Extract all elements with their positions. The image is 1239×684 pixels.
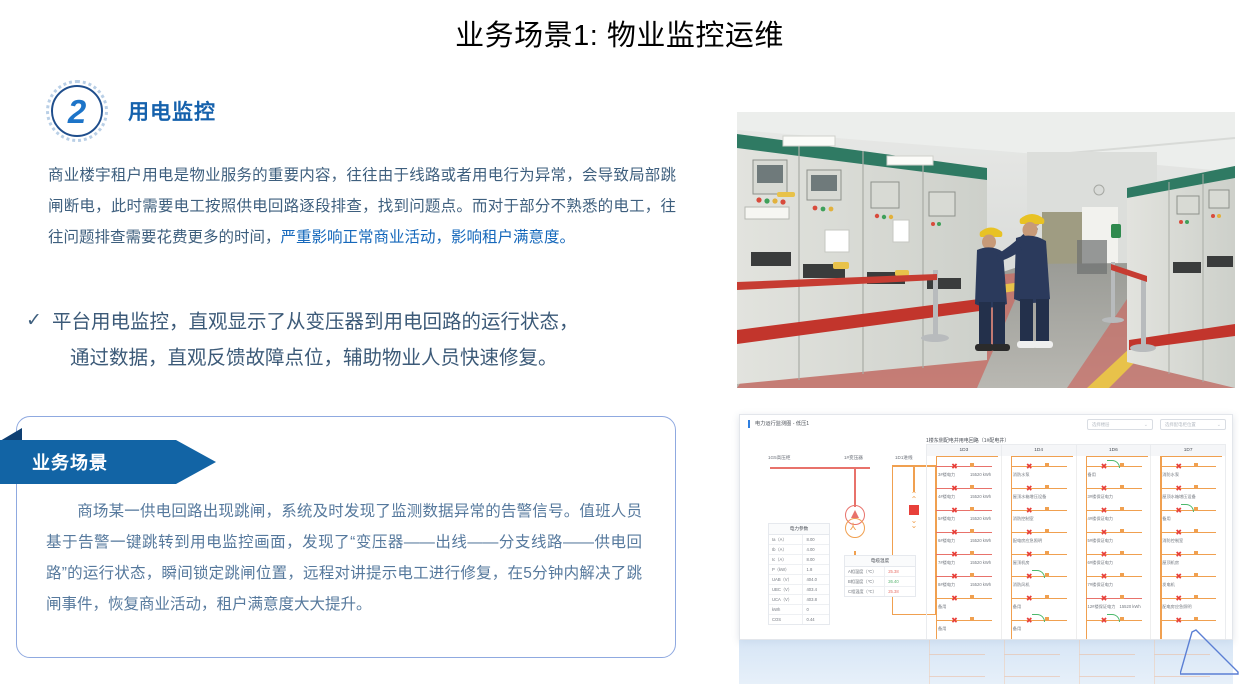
reflection-branch-line [929,676,985,677]
branch-label: 备用 [1013,604,1021,610]
key-point-line-2: 通过数据，直观反馈故障点位，辅助物业人员快速修复。 [52,340,579,376]
dashboard-body: 1楼东侧配电井用电回路（1#配电井） 1G5高压柜 1#变压器 1D1进线 ⅄ … [740,435,1232,640]
section-number-badge: 2 [46,80,108,142]
circuit-branch[interactable]: ✖屋顶水箱增压设备 [1011,484,1077,506]
breaker-open-x-icon: ✖ [1100,529,1109,538]
reflection-branch-line [1079,654,1135,655]
dashboard-reflection [739,640,1233,684]
table-cell-value: 8.00 [803,555,829,564]
branch-label: 5#楼电力 [938,516,955,522]
circuit-branch[interactable]: ✖4#楼保证电力 [1086,506,1152,528]
branch-energy-value: 15520 kWh [1120,604,1141,609]
floor-select-placeholder: 选择楼层 [1092,422,1110,428]
breaker-open-x-icon: ✖ [950,551,959,560]
circuit-column: ✖备用✖3#楼保证电力✖4#楼保证电力✖5#楼保证电力✖6#楼保证电力✖7#楼保… [1077,456,1152,640]
circuit-branch[interactable]: ✖备用 [1160,506,1226,528]
branch-line [936,510,992,511]
branch-label: 消防风机 [1013,582,1030,588]
branch-label: 配电房应急照明 [1162,604,1191,610]
branch-label: 屋顶水箱增压设备 [1013,494,1047,500]
breaker-open-x-icon: ✖ [1174,529,1183,538]
branch-line [936,466,992,467]
branch-terminal-icon [970,595,974,599]
branch-label: 3#楼保证电力 [1088,494,1114,500]
circuit-branch[interactable]: ✖5#楼电力15520 kWh [936,506,1002,528]
branch-terminal-icon [970,573,974,577]
branch-status-ok-arc-icon [1107,614,1120,622]
branch-terminal-icon [1120,573,1124,577]
key-point-line-1: 平台用电监控，直观显示了从变压器到用电回路的运行状态， [52,311,579,333]
temp-table-rows: A相温度（℃）25.38B相温度（℃）26.40C相温度（℃）25.38 [845,567,915,596]
table-cell-value: 404.0 [803,575,829,584]
table-row: kWh0 [769,605,829,615]
branch-terminal-icon [1045,529,1049,533]
main-breaker-icon: ⌃ ⌃ ⌄ ⌄ [901,491,927,531]
scenario-banner: 业务场景 [0,440,216,484]
circuit-column-header[interactable]: 1D4 [1002,445,1077,456]
branch-energy-value: 15520 kWh [970,472,991,477]
branch-label: 5#楼保证电力 [1088,538,1114,544]
circuit-branch[interactable]: ✖3#楼保证电力 [1086,484,1152,506]
branch-status-ok-arc-icon [1181,504,1194,512]
table-cell-key: B相温度（℃） [845,577,885,586]
branch-line [1011,598,1067,599]
table-cell-value: 26.40 [885,577,915,586]
circuit-branch[interactable]: ✖备用 [1011,616,1077,638]
table-cell-value: 25.38 [885,587,915,596]
circuit-branch[interactable]: ✖消防控制室 [1160,528,1226,550]
table-cell-value: 4.00 [803,545,829,554]
circuit-branch[interactable]: ✖备用 [936,616,1002,638]
branch-line [1160,576,1216,577]
table-row: B相温度（℃）26.40 [845,577,915,587]
circuit-top-bus [1011,456,1073,457]
circuit-branch[interactable]: ✖备用 [1011,594,1077,616]
circuit-branch[interactable]: ✖6#楼电力15520 kWh [936,528,1002,550]
branch-label: 屋顶水箱增压设备 [1162,494,1196,500]
section-heading: 用电监控 [128,96,216,126]
page-title: 业务场景1: 物业监控运维 [0,12,1239,54]
breaker-chevron-up-2-icon: ⌃ [904,496,924,504]
branch-energy-value: 15520 kWh [970,516,991,521]
branch-energy-value: 15520 kWh [970,582,991,587]
breaker-open-x-icon: ✖ [950,617,959,626]
circuit-branch[interactable]: ✖6#楼保证电力 [1086,550,1152,572]
branch-label: 备用 [938,604,946,610]
branch-label: 配电房应急照明 [1013,538,1042,544]
branch-terminal-icon [1120,617,1124,621]
scenario-body-text: 商场某一供电回路出现跳闸，系统及时发现了监测数据异常的告警信号。值班人员基于告警… [46,496,642,620]
branch-line [1160,532,1216,533]
breaker-open-x-icon: ✖ [950,463,959,472]
branch-terminal-icon [1045,573,1049,577]
branch-terminal-icon [1194,551,1198,555]
circuit-branch[interactable]: ✖12#楼保证电力15520 kWh [1086,594,1152,616]
breaker-open-x-icon: ✖ [1174,485,1183,494]
breaker-open-x-icon: ✖ [1025,595,1034,604]
table-cell-value: 0.44 [803,615,829,624]
intro-paragraph: 商业楼宇租户用电是物业服务的重要内容，往往由于线路或者用电行为异常，会导致局部跳… [48,160,676,253]
reflection-lines [739,640,1233,684]
branch-energy-value: 15520 kWh [970,560,991,565]
branch-terminal-icon [1120,551,1124,555]
cabinet-select-placeholder: 选择配电柜位置 [1165,422,1196,428]
branch-label: 备用 [1088,472,1096,478]
breaker-chevron-down-2-icon: ⌄ [904,522,924,530]
breaker-open-x-icon: ✖ [950,485,959,494]
breaker-open-x-icon: ✖ [1100,507,1109,516]
branch-label: 4#楼电力 [938,494,955,500]
reflection-vertical-line [1004,640,1005,684]
branch-terminal-icon [970,485,974,489]
circuit-branch[interactable]: ✖消防风机 [1011,572,1077,594]
breaker-open-x-icon: ✖ [1100,551,1109,560]
circuit-branch[interactable]: ✖消防控制室 [1011,506,1077,528]
breaker-open-x-icon: ✖ [1025,507,1034,516]
table-cell-key: COS [769,615,803,624]
power-table-rows: Ia（A）8.00Ib（A）4.00Ic（A）8.00P（kW）1.8UAB（V… [769,535,829,624]
branch-terminal-icon [1194,595,1198,599]
breaker-open-x-icon: ✖ [1100,595,1109,604]
branch-terminal-icon [1120,463,1124,467]
delta-triangle-icon [851,510,859,518]
key-point-bullet: ✓ 平台用电监控，直观显示了从变压器到用电回路的运行状态， 通过数据，直观反馈故… [26,304,686,376]
circuit-header-row: 1D31D41D61D7 [926,444,1226,456]
branch-line [936,532,992,533]
table-cell-value: 25.38 [885,567,915,576]
circuit-branch[interactable]: ✖备用 [1086,462,1152,484]
branch-label: 3#楼电力 [938,472,955,478]
circuit-branch[interactable]: ✖消防水泵 [1160,462,1226,484]
branch-terminal-icon [1045,507,1049,511]
branch-line [1160,488,1216,489]
dashboard-header: 电力运行监测图 - 低压1 选择楼层 ⌄ 选择配电柜位置 ⌄ [740,415,1232,435]
branch-terminal-icon [1194,485,1198,489]
branch-line [936,620,992,621]
breaker-state-square-icon [909,505,919,515]
table-row: UAB（V）404.0 [769,575,829,585]
breaker-open-x-icon: ✖ [950,529,959,538]
circuit-column: ✖消防水泵✖屋顶水箱增压设备✖备用✖消防控制室✖屋顶机房✖发电机✖配电房应急照明… [1151,456,1225,640]
branch-terminal-icon [1194,507,1198,511]
breaker-open-x-icon: ✖ [1100,485,1109,494]
breaker-open-x-icon: ✖ [950,573,959,582]
table-row: C相温度（℃）25.38 [845,587,915,596]
high-voltage-drop-line [854,467,856,507]
table-row: UBC（V）403.4 [769,585,829,595]
circuit-column-header[interactable]: 1D7 [1151,445,1225,456]
branch-line [1160,620,1216,621]
power-monitoring-dashboard[interactable]: 电力运行监测图 - 低压1 选择楼层 ⌄ 选择配电柜位置 ⌄ 1楼东侧配电井用电… [739,414,1233,640]
table-cell-key: Ia（A） [769,535,803,544]
reflection-vertical-line [1079,640,1080,684]
circuit-branch[interactable]: ✖ [1086,616,1152,638]
perspective-wedge-decoration [1180,628,1239,684]
circuit-branch[interactable]: ✖发电机 [1160,572,1226,594]
circuit-branch[interactable]: ✖配电房应急照明 [1160,594,1226,616]
branch-energy-value: 15520 kWh [970,538,991,543]
circuit-branch[interactable]: ✖8#楼电力15520 kWh [936,572,1002,594]
table-row: Ic（A）8.00 [769,555,829,565]
circuit-branch[interactable]: ✖3#楼电力15520 kWh [936,462,1002,484]
table-cell-key: kWh [769,605,803,614]
branch-terminal-icon [1045,595,1049,599]
table-row: Ib（A）4.00 [769,545,829,555]
breaker-open-x-icon: ✖ [950,595,959,604]
transformer-symbol-icon: ⅄ [841,505,869,551]
breaker-open-x-icon: ✖ [1174,595,1183,604]
branch-label: 7#楼保证电力 [1088,582,1114,588]
table-cell-value: 1.8 [803,565,829,574]
branch-terminal-icon [1045,485,1049,489]
branch-terminal-icon [1045,551,1049,555]
branch-terminal-icon [1045,463,1049,467]
breaker-open-x-icon: ✖ [1025,551,1034,560]
reflection-branch-line [1004,676,1060,677]
circuit-branch[interactable]: ✖屋顶机房 [1011,550,1077,572]
branch-terminal-icon [970,529,974,533]
branch-label: 备用 [938,626,946,632]
circuit-column-header[interactable]: 1D6 [1077,445,1152,456]
reflection-vertical-line [1154,640,1155,684]
circuit-top-bus [1160,456,1222,457]
scenario-line-1: 商场某一供电回路出现跳闸，系统及时发现了监测数据异常的告警信号。 [77,503,579,520]
branch-terminal-icon [1045,617,1049,621]
circuit-branch[interactable]: ✖屋顶机房 [1160,550,1226,572]
circuit-column: ✖3#楼电力15520 kWh✖4#楼电力15520 kWh✖5#楼电力1552… [927,456,1002,640]
table-cell-key: UAB（V） [769,575,803,584]
chevron-down-icon: ⌄ [1217,422,1221,428]
branch-line [1160,466,1216,467]
branch-terminal-icon [1194,529,1198,533]
check-icon: ✓ [26,304,52,338]
branch-line [936,488,992,489]
branch-label: 7#楼电力 [938,560,955,566]
breaker-open-x-icon: ✖ [950,507,959,516]
badge-number: 2 [46,80,108,142]
photo-illustration [737,112,1235,388]
branch-label: 屋顶机房 [1013,560,1030,566]
breaker-open-x-icon: ✖ [1025,463,1034,472]
circuit-column: ✖消防水泵✖屋顶水箱增压设备✖消防控制室✖配电房应急照明✖屋顶机房✖消防风机✖备… [1002,456,1077,640]
branch-terminal-icon [970,463,974,467]
table-cell-value: 403.8 [803,595,829,604]
section-header: 2 用电监控 [46,80,216,142]
breaker-open-x-icon: ✖ [1174,551,1183,560]
table-cell-key: C相温度（℃） [845,587,885,596]
chevron-down-icon: ⌄ [1144,422,1148,428]
branch-label: 消防控制室 [1162,538,1183,544]
branch-label: 4#楼保证电力 [1088,516,1114,522]
branch-line [1011,554,1067,555]
table-cell-value: 8.00 [803,535,829,544]
table-row: Ia（A）8.00 [769,535,829,545]
table-cell-value: 403.4 [803,585,829,594]
branch-label: 6#楼保证电力 [1088,560,1114,566]
branch-line [1086,598,1142,599]
key-point-text: 平台用电监控，直观显示了从变压器到用电回路的运行状态， 通过数据，直观反馈故障点… [52,304,579,376]
reflection-vertical-line [929,640,930,684]
branch-status-ok-arc-icon [1032,614,1045,622]
power-table-header: 电力参数 [769,524,829,535]
circuit-branch[interactable]: ✖备用 [936,594,1002,616]
branch-terminal-icon [1120,595,1124,599]
breaker-open-x-icon: ✖ [1100,573,1109,582]
cable-temperature-table: 电缆温度 A相温度（℃）25.38B相温度（℃）26.40C相温度（℃）25.3… [844,555,916,597]
branch-energy-value: 15520 kWh [970,494,991,499]
table-cell-key: Ic（A） [769,555,803,564]
branch-label: 消防控制室 [1013,516,1034,522]
power-parameters-table: 电力参数 Ia（A）8.00Ib（A）4.00Ic（A）8.00P（kW）1.8… [768,523,830,625]
breaker-open-x-icon: ✖ [1174,463,1183,472]
branch-line [1086,576,1142,577]
reflection-branch-line [1079,676,1135,677]
branch-label: 6#楼电力 [938,538,955,544]
scenario-banner-label: 业务场景 [0,449,108,475]
table-cell-key: UCA（V） [769,595,803,604]
breaker-open-x-icon: ✖ [1025,529,1034,538]
branch-line [1086,532,1142,533]
branch-terminal-icon [1120,485,1124,489]
branch-line [936,576,992,577]
branch-label: 备用 [1013,626,1021,632]
dashboard-filters: 选择楼层 ⌄ 选择配电柜位置 ⌄ [1087,419,1226,430]
circuit-branch[interactable]: ✖消防水泵 [1011,462,1077,484]
table-row: UCA（V）403.8 [769,595,829,605]
branch-line [1011,510,1067,511]
wye-glyph-icon: ⅄ [850,523,856,533]
branch-line [1011,532,1067,533]
circuit-branch[interactable]: ✖5#楼保证电力 [1086,528,1152,550]
branch-label: 12#楼保证电力 [1088,604,1116,610]
branch-line [1011,466,1067,467]
table-cell-key: A相温度（℃） [845,567,885,576]
reflection-branch-line [1004,654,1060,655]
branch-terminal-icon [1194,617,1198,621]
circuit-columns: 1D31D41D61D7 ✖3#楼电力15520 kWh✖4#楼电力15520 … [926,444,1226,640]
branch-label: 备用 [1162,516,1170,522]
table-cell-value: 0 [803,605,829,614]
branch-label: 消防水泵 [1162,472,1179,478]
label-incoming-line: 1D1进线 [895,455,913,461]
table-row: A相温度（℃）25.38 [845,567,915,577]
circuit-branch[interactable]: ✖7#楼电力15520 kWh [936,550,1002,572]
banner-fold-shape [0,428,22,441]
branch-line [1086,554,1142,555]
branch-terminal-icon [1194,463,1198,467]
breaker-open-x-icon: ✖ [1025,485,1034,494]
branch-terminal-icon [970,507,974,511]
branch-line [1086,510,1142,511]
breaker-open-x-icon: ✖ [1174,617,1183,626]
table-cell-key: Ib（A） [769,545,803,554]
cabinet-location-select[interactable]: 选择配电柜位置 ⌄ [1160,419,1226,430]
branch-status-ok-arc-icon [1032,570,1045,578]
branch-line [1160,598,1216,599]
branch-line [1011,488,1067,489]
circuit-group-title: 1楼东侧配电井用电回路（1#配电井） [926,437,1009,444]
branch-terminal-icon [1120,529,1124,533]
breaker-open-x-icon: ✖ [1174,573,1183,582]
temp-table-header: 电缆温度 [845,556,915,567]
label-high-voltage-cabinet: 1G5高压柜 [768,455,790,461]
circuit-top-bus [936,456,998,457]
branch-terminal-icon [970,617,974,621]
circuit-column-bodies: ✖3#楼电力15520 kWh✖4#楼电力15520 kWh✖5#楼电力1552… [926,456,1226,640]
branch-line [936,598,992,599]
branch-terminal-icon [1120,507,1124,511]
switchgear-room-photo [737,112,1235,388]
branch-line [1160,554,1216,555]
branch-terminal-icon [1194,573,1198,577]
intro-paragraph-highlight: 严重影响正常商业活动，影响租户满意度。 [281,229,576,246]
branch-terminal-icon [970,551,974,555]
table-row: P（kW）1.8 [769,565,829,575]
circuit-top-bus [1086,456,1148,457]
circuit-branch[interactable]: ✖7#楼保证电力 [1086,572,1152,594]
branch-line [936,554,992,555]
branch-label: 8#楼电力 [938,582,955,588]
circuit-branch[interactable]: ✖4#楼电力15520 kWh [936,484,1002,506]
circuit-branch[interactable]: ✖屋顶水箱增压设备 [1160,484,1226,506]
incoming-stem-line [913,466,915,492]
table-cell-key: P（kW） [769,565,803,574]
dashboard-title: 电力运行监测图 - 低压1 [748,420,809,428]
branch-label: 消防水泵 [1013,472,1030,478]
branch-status-ok-arc-icon [1107,460,1120,468]
label-transformer: 1#变压器 [844,455,863,461]
table-row: COS0.44 [769,615,829,624]
reflection-branch-line [929,654,985,655]
branch-line [1086,488,1142,489]
table-cell-key: UBC（V） [769,585,803,594]
circuit-column-header[interactable]: 1D3 [927,445,1002,456]
branch-label: 屋顶机房 [1162,560,1179,566]
circuit-branch[interactable]: ✖配电房应急照明 [1011,528,1077,550]
floor-select[interactable]: 选择楼层 ⌄ [1087,419,1153,430]
branch-label: 发电机 [1162,582,1175,588]
